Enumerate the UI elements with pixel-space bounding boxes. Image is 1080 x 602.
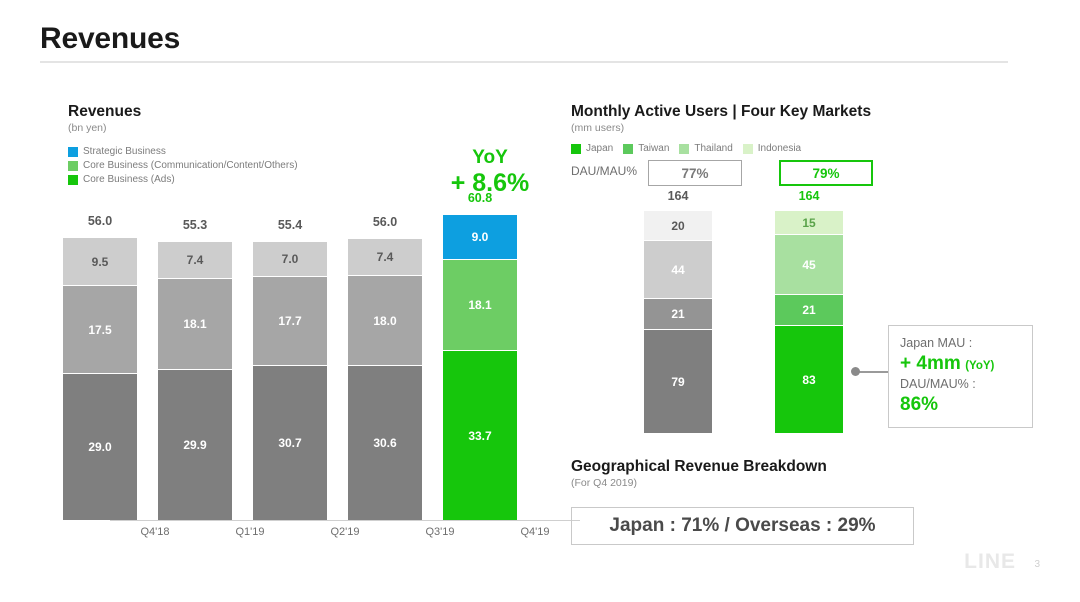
bar-segment-strategic: 7.4 [348,239,422,276]
legend-swatch-icon [571,144,581,154]
legend-swatch-icon [68,175,78,185]
mau-segment-thailand: 44 [644,241,712,299]
bar-segment-core-ads: 30.7 [253,366,327,520]
mau-column-q419: 164 15 45 21 83 [775,211,843,433]
geo-panel-title: Geographical Revenue Breakdown [571,458,1031,476]
bar-column-q418: 56.0 9.5 17.5 29.0 [63,238,137,520]
legend-label: Strategic Business [83,146,166,157]
legend-swatch-icon [679,144,689,154]
callout-japan-mau-value-row: + 4mm (YoY) [900,352,1021,376]
dau-mau-value-q418: 77% [648,160,742,186]
mau-panel-header: Monthly Active Users | Four Key Markets … [571,103,1031,154]
mau-total-label: 164 [775,189,843,203]
mau-segment-indonesia: 20 [644,211,712,241]
mau-segment-japan: 79 [644,330,712,433]
bar-segment-core-comm: 18.0 [348,276,422,366]
bar-column-q419: 60.8 9.0 18.1 33.7 [443,215,517,520]
legend-item-thailand: Thailand [679,143,732,154]
revenue-panel-title: Revenues [68,103,538,121]
bar-segment-strategic: 7.0 [253,242,327,277]
bar-column-q319: 56.0 7.4 18.0 30.6 [348,239,422,520]
brand-logo: LINE [964,550,1016,574]
dau-mau-row-label: DAU/MAU% [571,164,637,178]
bar-column-q119: 55.3 7.4 18.1 29.9 [158,242,232,520]
legend-item-japan: Japan [571,143,613,154]
mau-segment-taiwan: 21 [775,295,843,326]
mau-column-q418: 164 20 44 21 79 [644,211,712,433]
bar-segment-strategic: 9.5 [63,238,137,286]
legend-swatch-icon [623,144,633,154]
yoy-label: YoY [430,148,550,169]
bar-segment-core-ads: 29.9 [158,370,232,520]
mau-panel-unit: (mm users) [571,122,1031,134]
dau-mau-value-q419: 79% [779,160,873,186]
mau-legend: Japan Taiwan Thailand Indonesia [571,143,1031,154]
legend-label: Indonesia [758,143,801,154]
bar-total-label: 55.3 [158,218,232,232]
axis-tick-q319: Q3'19 [403,526,477,538]
bar-total-label: 60.8 [443,191,517,205]
legend-item-taiwan: Taiwan [623,143,669,154]
bar-segment-core-comm: 18.1 [443,260,517,351]
axis-tick-q119: Q1'19 [213,526,287,538]
callout-connector-line [855,371,889,373]
bar-total-label: 56.0 [348,215,422,229]
bar-total-label: 55.4 [253,218,327,232]
legend-swatch-icon [68,161,78,171]
axis-tick-q418: Q4'18 [118,526,192,538]
bar-total-label: 56.0 [63,214,137,228]
title-divider [40,61,1008,63]
bar-segment-core-comm: 17.5 [63,286,137,374]
geo-revenue-value-box: Japan : 71% / Overseas : 29% [571,507,914,545]
legend-label: Thailand [694,143,732,154]
legend-label: Core Business (Ads) [83,174,175,185]
legend-swatch-icon [68,147,78,157]
mau-segment-thailand: 45 [775,235,843,295]
mau-segment-taiwan: 21 [644,299,712,330]
bar-segment-strategic: 9.0 [443,215,517,260]
legend-label: Core Business (Communication/Content/Oth… [83,160,298,171]
callout-japan-mau-suffix: (YoY) [965,360,994,372]
bar-segment-core-comm: 17.7 [253,277,327,366]
bar-segment-core-ads: 30.6 [348,366,422,520]
bar-column-q219: 55.4 7.0 17.7 30.7 [253,242,327,520]
revenue-bar-chart: 56.0 9.5 17.5 29.0 55.3 7.4 18.1 29.9 55… [55,212,525,542]
callout-japan-mau-label: Japan MAU : [900,335,1021,352]
page-title: Revenues [40,22,180,56]
legend-label: Taiwan [638,143,669,154]
revenue-x-axis: Q4'18 Q1'19 Q2'19 Q3'19 Q4'19 [110,520,580,542]
callout-dau-mau-label: DAU/MAU% : [900,376,1021,393]
legend-item-indonesia: Indonesia [743,143,801,154]
mau-segment-indonesia: 15 [775,211,843,235]
revenue-panel-unit: (bn yen) [68,122,538,134]
mau-total-label: 164 [644,189,712,203]
bar-segment-core-ads: 29.0 [63,374,137,520]
axis-tick-q419: Q4'19 [498,526,572,538]
callout-connector-dot [851,367,860,376]
mau-bar-chart: 164 20 44 21 79 164 15 45 21 83 Q4'18 Q4… [571,190,891,455]
mau-segment-japan: 83 [775,326,843,433]
legend-label: Japan [586,143,613,154]
dau-mau-row: DAU/MAU% 77% 79% [571,160,1031,186]
geo-panel-header: Geographical Revenue Breakdown (For Q4 2… [571,458,1031,489]
bar-segment-strategic: 7.4 [158,242,232,279]
axis-line [110,520,580,521]
page-number: 3 [1034,559,1040,570]
mau-panel-title: Monthly Active Users | Four Key Markets [571,103,1031,121]
bar-segment-core-ads: 33.7 [443,351,517,520]
bar-segment-core-comm: 18.1 [158,279,232,370]
callout-japan-mau-value: + 4mm [900,353,961,374]
geo-panel-subtitle: (For Q4 2019) [571,477,1031,489]
japan-mau-callout: Japan MAU : + 4mm (YoY) DAU/MAU% : 86% [888,325,1033,428]
legend-swatch-icon [743,144,753,154]
axis-tick-q219: Q2'19 [308,526,382,538]
callout-dau-mau-value: 86% [900,393,1021,417]
